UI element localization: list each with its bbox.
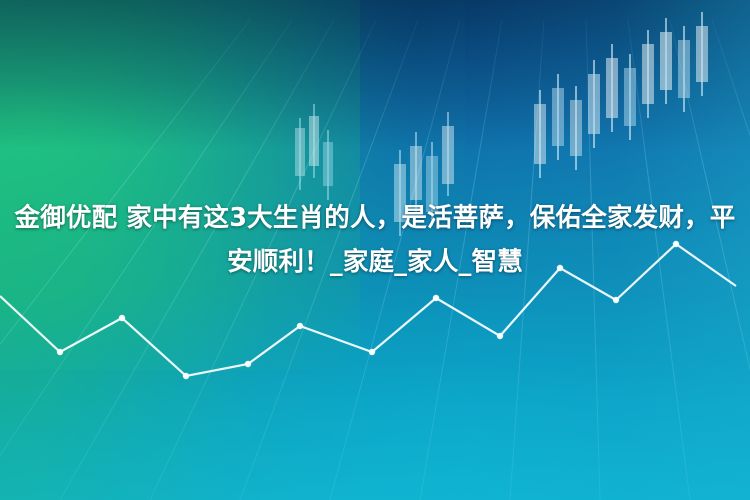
image-canvas: 金御优配 家中有这3大生肖的人，是活菩萨，保佑全家发财，平安顺利！_家庭_家人_…	[0, 0, 750, 500]
headline-text: 金御优配 家中有这3大生肖的人，是活菩萨，保佑全家发财，平安顺利！_家庭_家人_…	[15, 203, 736, 277]
headline-overlay: 金御优配 家中有这3大生肖的人，是活菩萨，保佑全家发财，平安顺利！_家庭_家人_…	[0, 196, 750, 284]
